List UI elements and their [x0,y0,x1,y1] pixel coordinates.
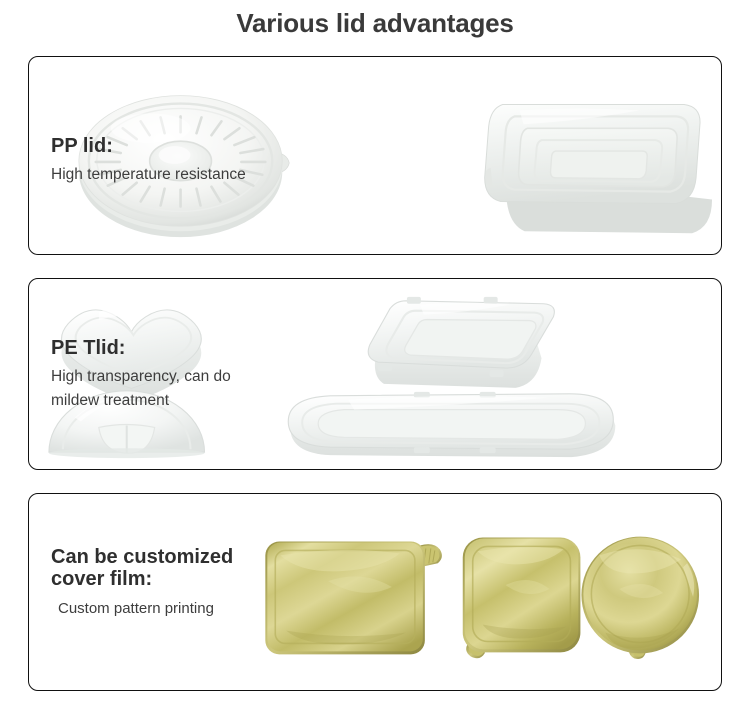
rectangular-gold-cover-film-art [265,542,442,655]
panel-cover-film: Can be customized cover film: Custom pat… [28,493,722,691]
panel-pe-lid: PE Tlid: High transparency, can do milde… [28,278,722,470]
cover-film-text-block: Can be customized cover film: Custom pat… [51,546,233,620]
infographic-page: Various lid advantages [0,0,750,713]
oval-flat-pe-lid-art [288,392,615,457]
panel-pp-lid: PP lid: High temperature resistance [28,56,722,255]
cover-film-heading: Can be customized cover film: [51,546,233,591]
square-dome-pe-lid-art [368,297,554,388]
page-title: Various lid advantages [0,8,750,39]
round-gold-cover-film-art [581,537,699,659]
pp-lid-description: High temperature resistance [51,163,246,187]
pp-lid-text-block: PP lid: High temperature resistance [51,135,246,187]
pe-lid-description: High transparency, can do mildew treatme… [51,365,231,413]
rectangular-pp-lid-art [485,105,712,234]
square-gold-cover-film-art [463,538,581,659]
cover-film-description: Custom pattern printing [51,597,233,620]
pp-lid-heading: PP lid: [51,135,246,157]
pe-lid-text-block: PE Tlid: High transparency, can do milde… [51,337,231,413]
pe-lid-heading: PE Tlid: [51,337,231,359]
